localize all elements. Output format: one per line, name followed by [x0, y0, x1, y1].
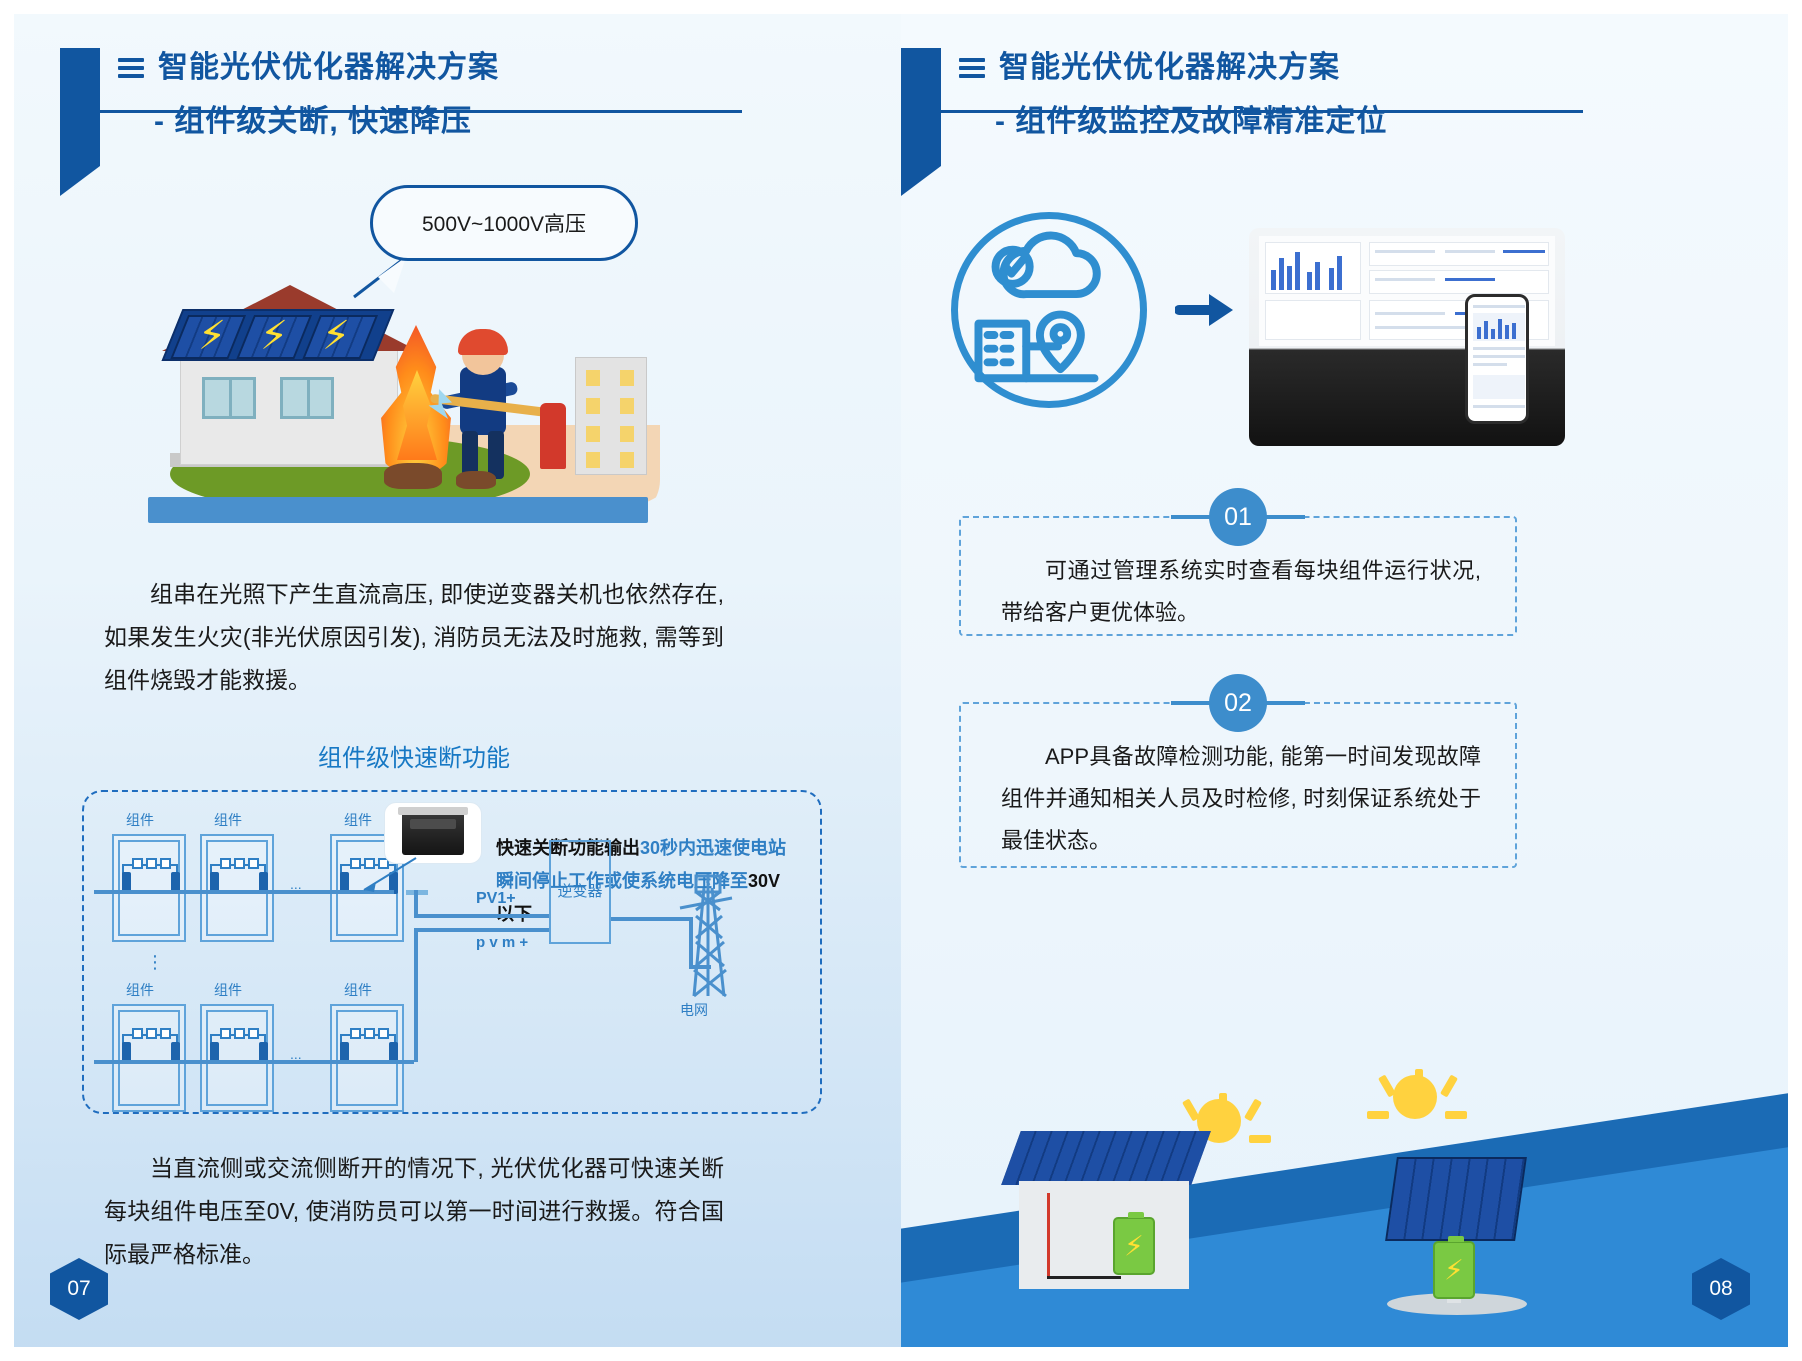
scene-base-bar — [148, 497, 648, 523]
brochure-spread: 智能光伏优化器解决方案 - 组件级关断, 快速降压 500V~1000V高压 — [0, 0, 1802, 1361]
battery-icon-2: ⚡ — [1433, 1241, 1475, 1299]
lightning-bolt-icon-3: ⚡ — [322, 313, 350, 359]
module-label-4: 组件 — [126, 980, 154, 1000]
pv-module-6 — [330, 1004, 404, 1112]
header-title-left: 智能光伏优化器解决方案 — [118, 48, 740, 88]
power-tower-icon — [674, 870, 736, 998]
building-window — [586, 452, 600, 468]
hero-illustration-left: 500V~1000V高压 ⚡ — [140, 175, 660, 535]
ground-solar-panel — [1385, 1157, 1527, 1241]
building-window — [586, 426, 600, 442]
header-title-left-text: 智能光伏优化器解决方案 — [158, 48, 499, 88]
building-window — [586, 370, 600, 386]
page-left: 智能光伏优化器解决方案 - 组件级关断, 快速降压 500V~1000V高压 — [0, 0, 901, 1361]
page-number-left: 07 — [50, 1258, 108, 1320]
paragraph-fire-risk: 组串在光照下产生直流高压, 即使逆变器关机也依然存在, 如果发生火灾(非光伏原因… — [104, 573, 724, 702]
house-with-solar-roof — [1001, 1131, 1211, 1185]
fire-hydrant-icon — [540, 403, 566, 469]
house-window-1 — [202, 377, 256, 419]
diagram-title: 组件级快速断功能 — [104, 738, 724, 773]
chart-card-3 — [1369, 270, 1549, 294]
monitoring-dashboard-photo — [1249, 228, 1565, 446]
wire-segment — [414, 914, 550, 918]
rock-2 — [456, 471, 496, 489]
header-flag-left — [60, 48, 100, 166]
module-label-1: 组件 — [126, 810, 154, 830]
module-label-3: 组件 — [344, 810, 372, 830]
chart-card-4 — [1265, 300, 1361, 340]
header-flag-right — [901, 48, 941, 166]
step-01: 01 可通过管理系统实时查看每块组件运行状况, 带给客户更优体验。 — [959, 488, 1517, 636]
phone-app-screen — [1465, 294, 1529, 424]
wire-segment — [414, 890, 418, 916]
chart-card-2 — [1369, 242, 1549, 266]
callout-leader-line — [360, 854, 420, 894]
building-window — [620, 398, 634, 414]
string-vertical-ellipsis: ⋮ — [146, 952, 166, 973]
step-02: 02 APP具备故障检测功能, 能第一时间发现故障组件并通知相关人员及时检修, … — [959, 674, 1517, 864]
paragraph-shutdown-benefit: 当直流侧或交流侧断开的情况下, 光伏优化器可快速关断每块组件电压至0V, 使消防… — [104, 1147, 724, 1276]
hamburger-icon — [959, 54, 985, 83]
background-building — [575, 357, 647, 475]
building-window — [620, 426, 634, 442]
page-right: 智能光伏优化器解决方案 - 组件级监控及故障精准定位 — [901, 0, 1802, 1361]
voltage-callout-bubble: 500V~1000V高压 — [370, 185, 638, 261]
rapid-shutdown-diagram: 组件 组件 组件 ... — [82, 790, 822, 1114]
module-label-6: 组件 — [344, 980, 372, 1000]
scene-house-body — [1019, 1181, 1189, 1289]
rock-1 — [384, 463, 442, 489]
cloud-location-monitoring-icon — [958, 219, 1140, 401]
building-window — [620, 370, 634, 386]
bottom-solar-scene: ⚡ ⚡ — [901, 1061, 1802, 1361]
header-right: 智能光伏优化器解决方案 - 组件级监控及故障精准定位 — [901, 48, 1581, 140]
header-title-right-text: 智能光伏优化器解决方案 — [999, 48, 1340, 88]
string-bus-top — [94, 890, 394, 894]
module-label-5: 组件 — [214, 980, 242, 1000]
callout-blue-1: 30秒内迅速使电站 — [640, 838, 786, 858]
lightning-bolt-icon-1: ⚡ — [198, 313, 226, 359]
pvm-plus-label: p v m + — [476, 934, 528, 951]
wire-segment — [414, 928, 550, 932]
battery-icon-1: ⚡ — [1113, 1217, 1155, 1275]
arrow-right-icon — [1175, 290, 1235, 330]
pv-module-2 — [200, 834, 274, 942]
inverter-label: 逆变器 — [549, 880, 611, 901]
building-window — [620, 452, 634, 468]
house-window-2 — [280, 377, 334, 419]
step-02-badge: 02 — [1209, 674, 1267, 732]
wire-segment — [414, 928, 418, 1062]
lightning-bolt-icon-2: ⚡ — [260, 313, 288, 359]
voltage-callout-text: 500V~1000V高压 — [422, 208, 586, 238]
optimizer-device-icon — [402, 811, 464, 855]
step-01-badge: 01 — [1209, 488, 1267, 546]
house-fire-scene: ⚡ ⚡ ⚡ — [140, 285, 660, 535]
bubble-tail-icon — [348, 253, 408, 301]
grid-label: 电网 — [680, 1000, 708, 1020]
pv-plus-label: PV1+ — [476, 890, 516, 908]
step-01-text: 可通过管理系统实时查看每块组件运行状况, 带给客户更优体验。 — [1001, 550, 1481, 634]
header-title-right: 智能光伏优化器解决方案 — [959, 48, 1581, 88]
building-window — [586, 398, 600, 414]
fireman-helmet-icon — [458, 329, 508, 355]
pv-module-1 — [112, 834, 186, 942]
step-02-text: APP具备故障检测功能, 能第一时间发现故障组件并通知相关人员及时检修, 时刻保… — [1001, 736, 1481, 862]
monitoring-icon-circle — [951, 212, 1147, 408]
pv-module-5 — [200, 1004, 274, 1112]
header-left: 智能光伏优化器解决方案 - 组件级关断, 快速降压 — [60, 48, 740, 140]
header-subtitle-left: - 组件级关断, 快速降压 — [154, 96, 740, 140]
string-bus-bottom — [94, 1060, 414, 1064]
header-subtitle-right: - 组件级监控及故障精准定位 — [995, 96, 1581, 140]
pv-module-4 — [112, 1004, 186, 1112]
hamburger-icon — [118, 54, 144, 83]
module-label-2: 组件 — [214, 810, 242, 830]
